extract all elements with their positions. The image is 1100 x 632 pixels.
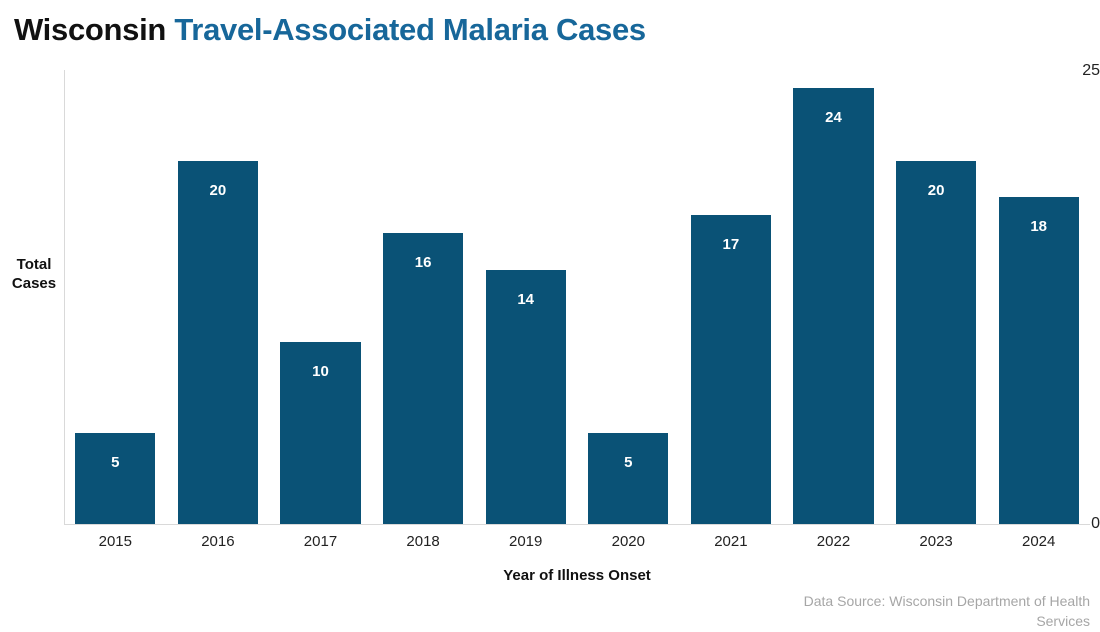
x-tick-label-2016: 2016	[167, 534, 270, 549]
bar[interactable]	[793, 88, 873, 524]
bar-group: 14	[486, 270, 566, 524]
y-tick-label-25: 25	[1052, 63, 1100, 79]
chart-figure: Wisconsin Travel-Associated Malaria Case…	[0, 0, 1100, 619]
y-axis-title: Total Cases	[8, 255, 60, 293]
x-tick-label-2023: 2023	[885, 534, 988, 549]
bar-value-label: 16	[383, 255, 463, 270]
y-axis-title-line-2: Cases	[8, 274, 60, 293]
bar-value-label: 14	[486, 292, 566, 307]
bar-value-label: 24	[793, 110, 873, 125]
bar-group: 16	[383, 233, 463, 524]
bar-group: 10	[280, 342, 360, 524]
bar[interactable]	[486, 270, 566, 524]
x-tick-label-2024: 2024	[987, 534, 1090, 549]
x-tick-label-2018: 2018	[372, 534, 475, 549]
title-segment-state: Wisconsin	[14, 12, 166, 47]
bar-group: 20	[896, 161, 976, 524]
bar[interactable]	[691, 215, 771, 524]
bar-group: 5	[75, 433, 155, 524]
x-tick-label-2017: 2017	[269, 534, 372, 549]
bar-value-label: 10	[280, 364, 360, 379]
page-title: Wisconsin Travel-Associated Malaria Case…	[14, 12, 646, 48]
x-tick-label-2019: 2019	[474, 534, 577, 549]
bar[interactable]	[896, 161, 976, 524]
bar-group: 20	[178, 161, 258, 524]
x-axis-line	[64, 524, 1090, 525]
bar[interactable]	[178, 161, 258, 524]
bar[interactable]	[383, 233, 463, 524]
title-segment-subject: Travel-Associated Malaria Cases	[174, 12, 645, 47]
bar[interactable]	[75, 433, 155, 524]
data-source-note: Data Source: Wisconsin Department of Hea…	[660, 591, 1090, 632]
bar-value-label: 20	[178, 183, 258, 198]
bar-group: 18	[999, 197, 1079, 524]
bar-group: 17	[691, 215, 771, 524]
x-tick-label-2020: 2020	[577, 534, 680, 549]
bar[interactable]	[588, 433, 668, 524]
bar-value-label: 18	[999, 219, 1079, 234]
bar[interactable]	[999, 197, 1079, 524]
x-tick-label-2021: 2021	[680, 534, 783, 549]
x-tick-label-2022: 2022	[782, 534, 885, 549]
data-source-line-1: Data Source: Wisconsin Department of Hea…	[660, 591, 1090, 611]
bar-group: 5	[588, 433, 668, 524]
bar-value-label: 5	[588, 455, 668, 470]
bar-value-label: 17	[691, 237, 771, 252]
y-axis-line	[64, 70, 65, 525]
x-axis-title: Year of Illness Onset	[64, 567, 1090, 584]
x-tick-label-2015: 2015	[64, 534, 167, 549]
bar-value-label: 5	[75, 455, 155, 470]
y-axis-title-line-1: Total	[8, 255, 60, 274]
data-source-line-2: Services	[660, 611, 1090, 631]
bar-group: 24	[793, 88, 873, 524]
bar-value-label: 20	[896, 183, 976, 198]
